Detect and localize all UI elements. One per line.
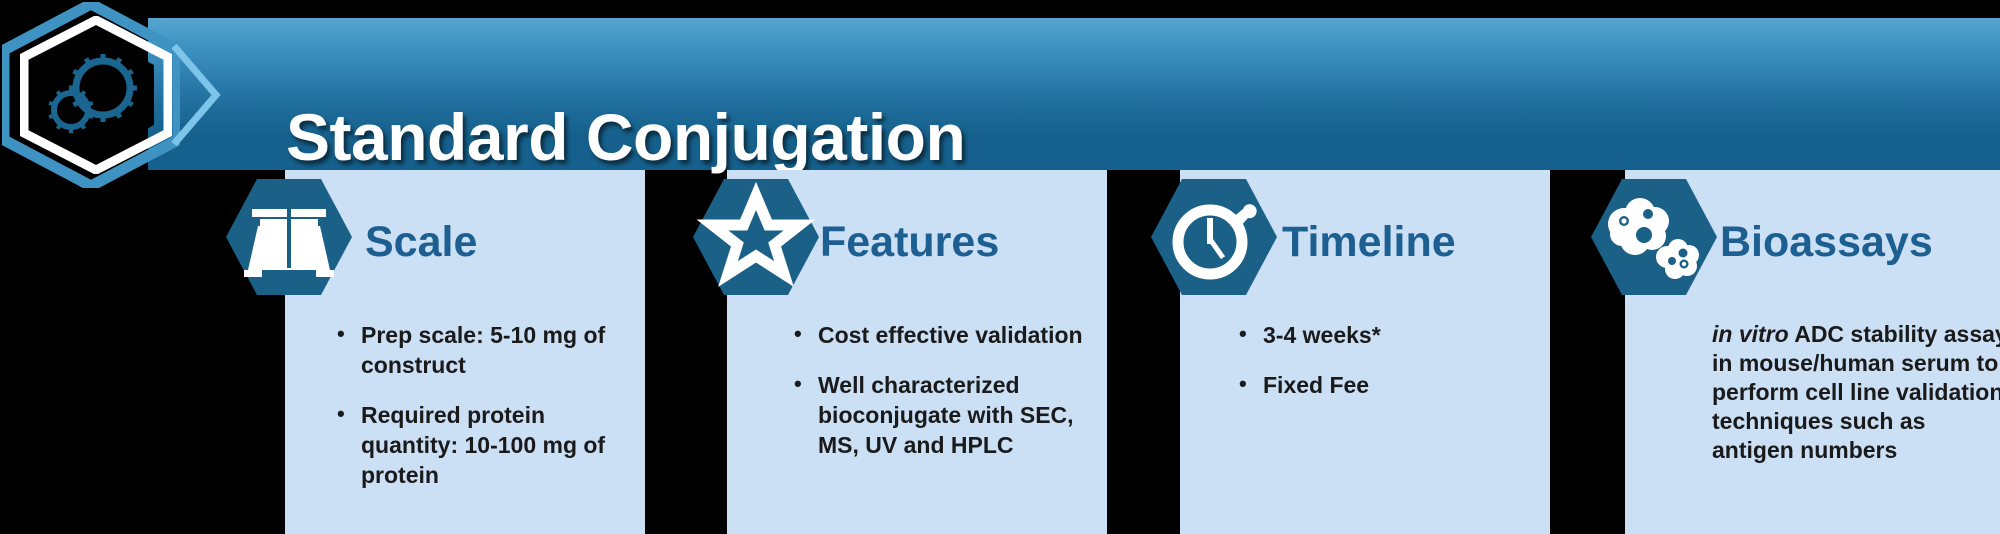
list-item: Well characterized bioconjugate with SEC… xyxy=(790,370,1100,460)
column-hex-scale xyxy=(225,178,353,296)
column-hex-features xyxy=(692,178,820,296)
column-title-scale: Scale xyxy=(365,214,477,270)
gears-icon xyxy=(46,42,146,146)
bioassays-italic-text: in vitro xyxy=(1712,321,1789,347)
column-hex-timeline xyxy=(1150,178,1278,296)
column-body-bioassays: in vitro ADC stability assay in mouse/hu… xyxy=(1712,320,2000,465)
logo-chevron-icon xyxy=(168,40,248,150)
column-hex-bioassays xyxy=(1590,178,1718,296)
column-body-features: Cost effective validation Well character… xyxy=(790,320,1100,480)
column-body-timeline: 3-4 weeks* Fixed Fee xyxy=(1235,320,1535,420)
column-title-bioassays: Bioassays xyxy=(1720,214,1933,270)
column-title-timeline: Timeline xyxy=(1282,214,1456,270)
list-item: Required protein quantity: 10-100 mg of … xyxy=(333,400,633,490)
list-item: Prep scale: 5-10 mg of construct xyxy=(333,320,633,380)
column-body-scale: Prep scale: 5-10 mg of construct Require… xyxy=(333,320,633,510)
list-item: 3-4 weeks* xyxy=(1235,320,1535,350)
logo xyxy=(0,0,250,190)
column-title-features: Features xyxy=(820,214,999,270)
list-item: Fixed Fee xyxy=(1235,370,1535,400)
list-item: Cost effective validation xyxy=(790,320,1100,350)
